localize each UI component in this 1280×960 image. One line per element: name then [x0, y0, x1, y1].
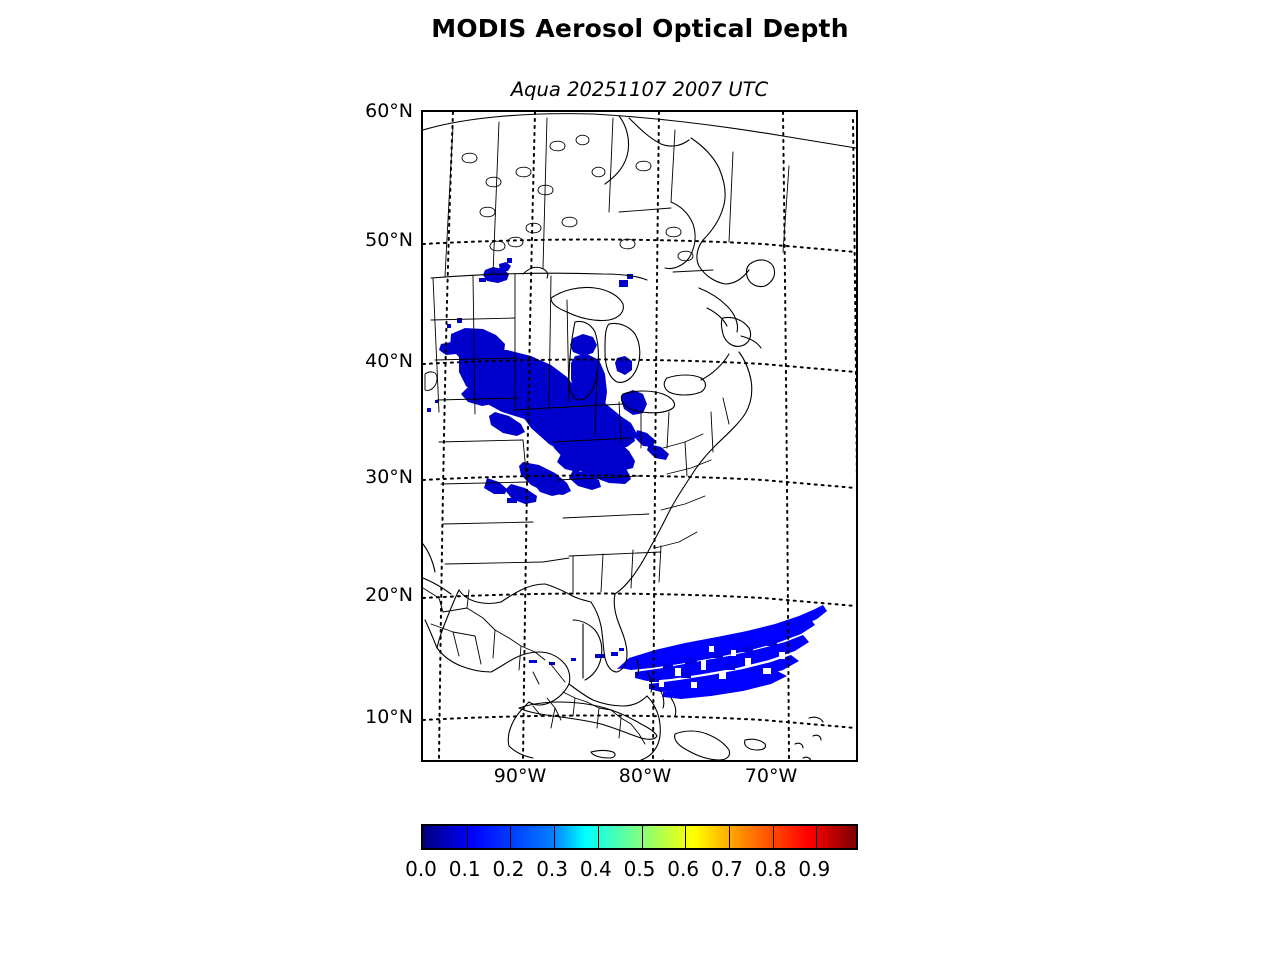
- map-graphics: [423, 112, 856, 760]
- aod-swath-minnesota: [479, 258, 512, 283]
- x-tick-label-80W: 80°W: [605, 765, 685, 787]
- aod-data-layer: [427, 258, 827, 699]
- colorbar-tick: [642, 826, 643, 848]
- y-tick-label-20N: 20°N: [325, 584, 413, 606]
- colorbar-label-9: 0.9: [798, 857, 830, 881]
- colorbar-tick: [554, 826, 555, 848]
- y-tick-label-10N: 10°N: [325, 706, 413, 728]
- colorbar-tick: [773, 826, 774, 848]
- figure-title: MODIS Aerosol Optical Depth: [0, 14, 1280, 43]
- colorbar-label-7: 0.7: [711, 857, 743, 881]
- aod-swath-central-america: [529, 648, 624, 665]
- gridline-lon-60: [853, 120, 856, 760]
- colorbar[interactable]: [421, 824, 858, 850]
- colorbar-label-3: 0.3: [536, 857, 568, 881]
- colorbar-tick: [816, 826, 817, 848]
- y-tick-label-40N: 40°N: [325, 350, 413, 372]
- gridline-lat-10: [423, 716, 856, 729]
- colorbar-label-1: 0.1: [449, 857, 481, 881]
- figure-canvas: MODIS Aerosol Optical Depth Aqua 2025110…: [0, 0, 1280, 960]
- colorbar-tick: [510, 826, 511, 848]
- y-tick-label-30N: 30°N: [325, 466, 413, 488]
- x-tick-label-90W: 90°W: [480, 765, 560, 787]
- colorbar-label-2: 0.2: [492, 857, 524, 881]
- map-plot-area[interactable]: [421, 110, 858, 762]
- aod-specks-west: [427, 400, 438, 412]
- colorbar-label-5: 0.5: [624, 857, 656, 881]
- gridline-lat-50: [423, 240, 856, 253]
- colorbar-tick: [467, 826, 468, 848]
- colorbar-label-8: 0.8: [755, 857, 787, 881]
- x-tick-label-70W: 70°W: [731, 765, 811, 787]
- colorbar-label-0: 0.0: [405, 857, 437, 881]
- colorbar-tick: [729, 826, 730, 848]
- colorbar-label-4: 0.4: [580, 857, 612, 881]
- y-tick-label-50N: 50°N: [325, 229, 413, 251]
- gridline-lon-100: [439, 112, 453, 760]
- aod-swath-caribbean: [617, 605, 827, 699]
- gridline-lat-20: [423, 594, 856, 607]
- y-tick-label-60N: 60°N: [325, 100, 413, 122]
- colorbar-label-6: 0.6: [667, 857, 699, 881]
- figure-subtitle: Aqua 20251107 2007 UTC: [421, 78, 858, 101]
- colorbar-tick: [685, 826, 686, 848]
- colorbar-tick: [598, 826, 599, 848]
